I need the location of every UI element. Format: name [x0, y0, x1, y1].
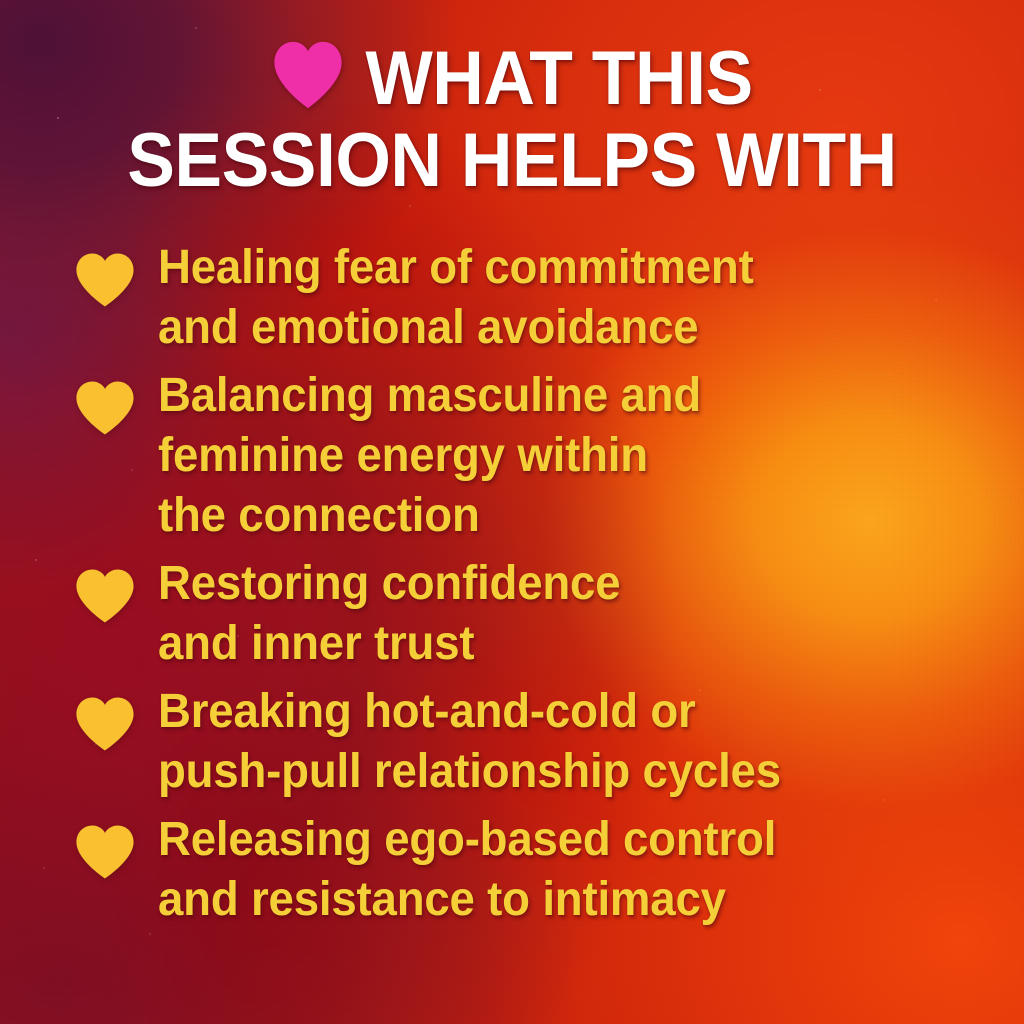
list-item-text: Breaking hot-and-cold or push-pull relat… — [158, 682, 931, 802]
heart-icon — [74, 568, 136, 624]
list-item: Breaking hot-and-cold or push-pull relat… — [72, 682, 972, 802]
list-item-line: and emotional avoidance — [158, 298, 931, 358]
list-item: Balancing masculine and feminine energy … — [72, 366, 972, 546]
poster-content: WHAT THIS SESSION HELPS WITH Healing fea… — [0, 0, 1024, 1024]
title-line-1: WHAT THIS — [31, 38, 994, 120]
list-item: Releasing ego-based control and resistan… — [72, 810, 972, 930]
list-item-line: Healing fear of commitment — [158, 238, 931, 298]
list-item-text: Balancing masculine and feminine energy … — [158, 366, 931, 546]
heart-icon — [74, 252, 136, 308]
heart-icon — [74, 824, 136, 880]
heart-icon — [74, 696, 136, 752]
list-item-text: Restoring confidence and inner trust — [158, 554, 931, 674]
page-title: WHAT THIS SESSION HELPS WITH — [0, 38, 1024, 202]
list-item-line: Balancing masculine and — [158, 366, 931, 426]
list-item-line: feminine energy within — [158, 426, 931, 486]
title-text-1: WHAT THIS — [365, 36, 752, 121]
list-item-line: the connection — [158, 486, 931, 546]
list-item-line: and inner trust — [158, 614, 931, 674]
title-line-2: SESSION HELPS WITH — [31, 120, 994, 202]
heart-icon — [271, 40, 344, 110]
list-item: Restoring confidence and inner trust — [72, 554, 972, 674]
list-item-line: and resistance to intimacy — [158, 870, 931, 930]
list-item-line: Breaking hot-and-cold or — [158, 682, 931, 742]
benefits-list: Healing fear of commitment and emotional… — [72, 238, 972, 938]
list-item-line: Releasing ego-based control — [158, 810, 931, 870]
poster-canvas: WHAT THIS SESSION HELPS WITH Healing fea… — [0, 0, 1024, 1024]
heart-icon — [74, 380, 136, 436]
list-item-line: Restoring confidence — [158, 554, 931, 614]
list-item-text: Releasing ego-based control and resistan… — [158, 810, 931, 930]
list-item-line: push-pull relationship cycles — [158, 742, 931, 802]
list-item: Healing fear of commitment and emotional… — [72, 238, 972, 358]
list-item-text: Healing fear of commitment and emotional… — [158, 238, 931, 358]
